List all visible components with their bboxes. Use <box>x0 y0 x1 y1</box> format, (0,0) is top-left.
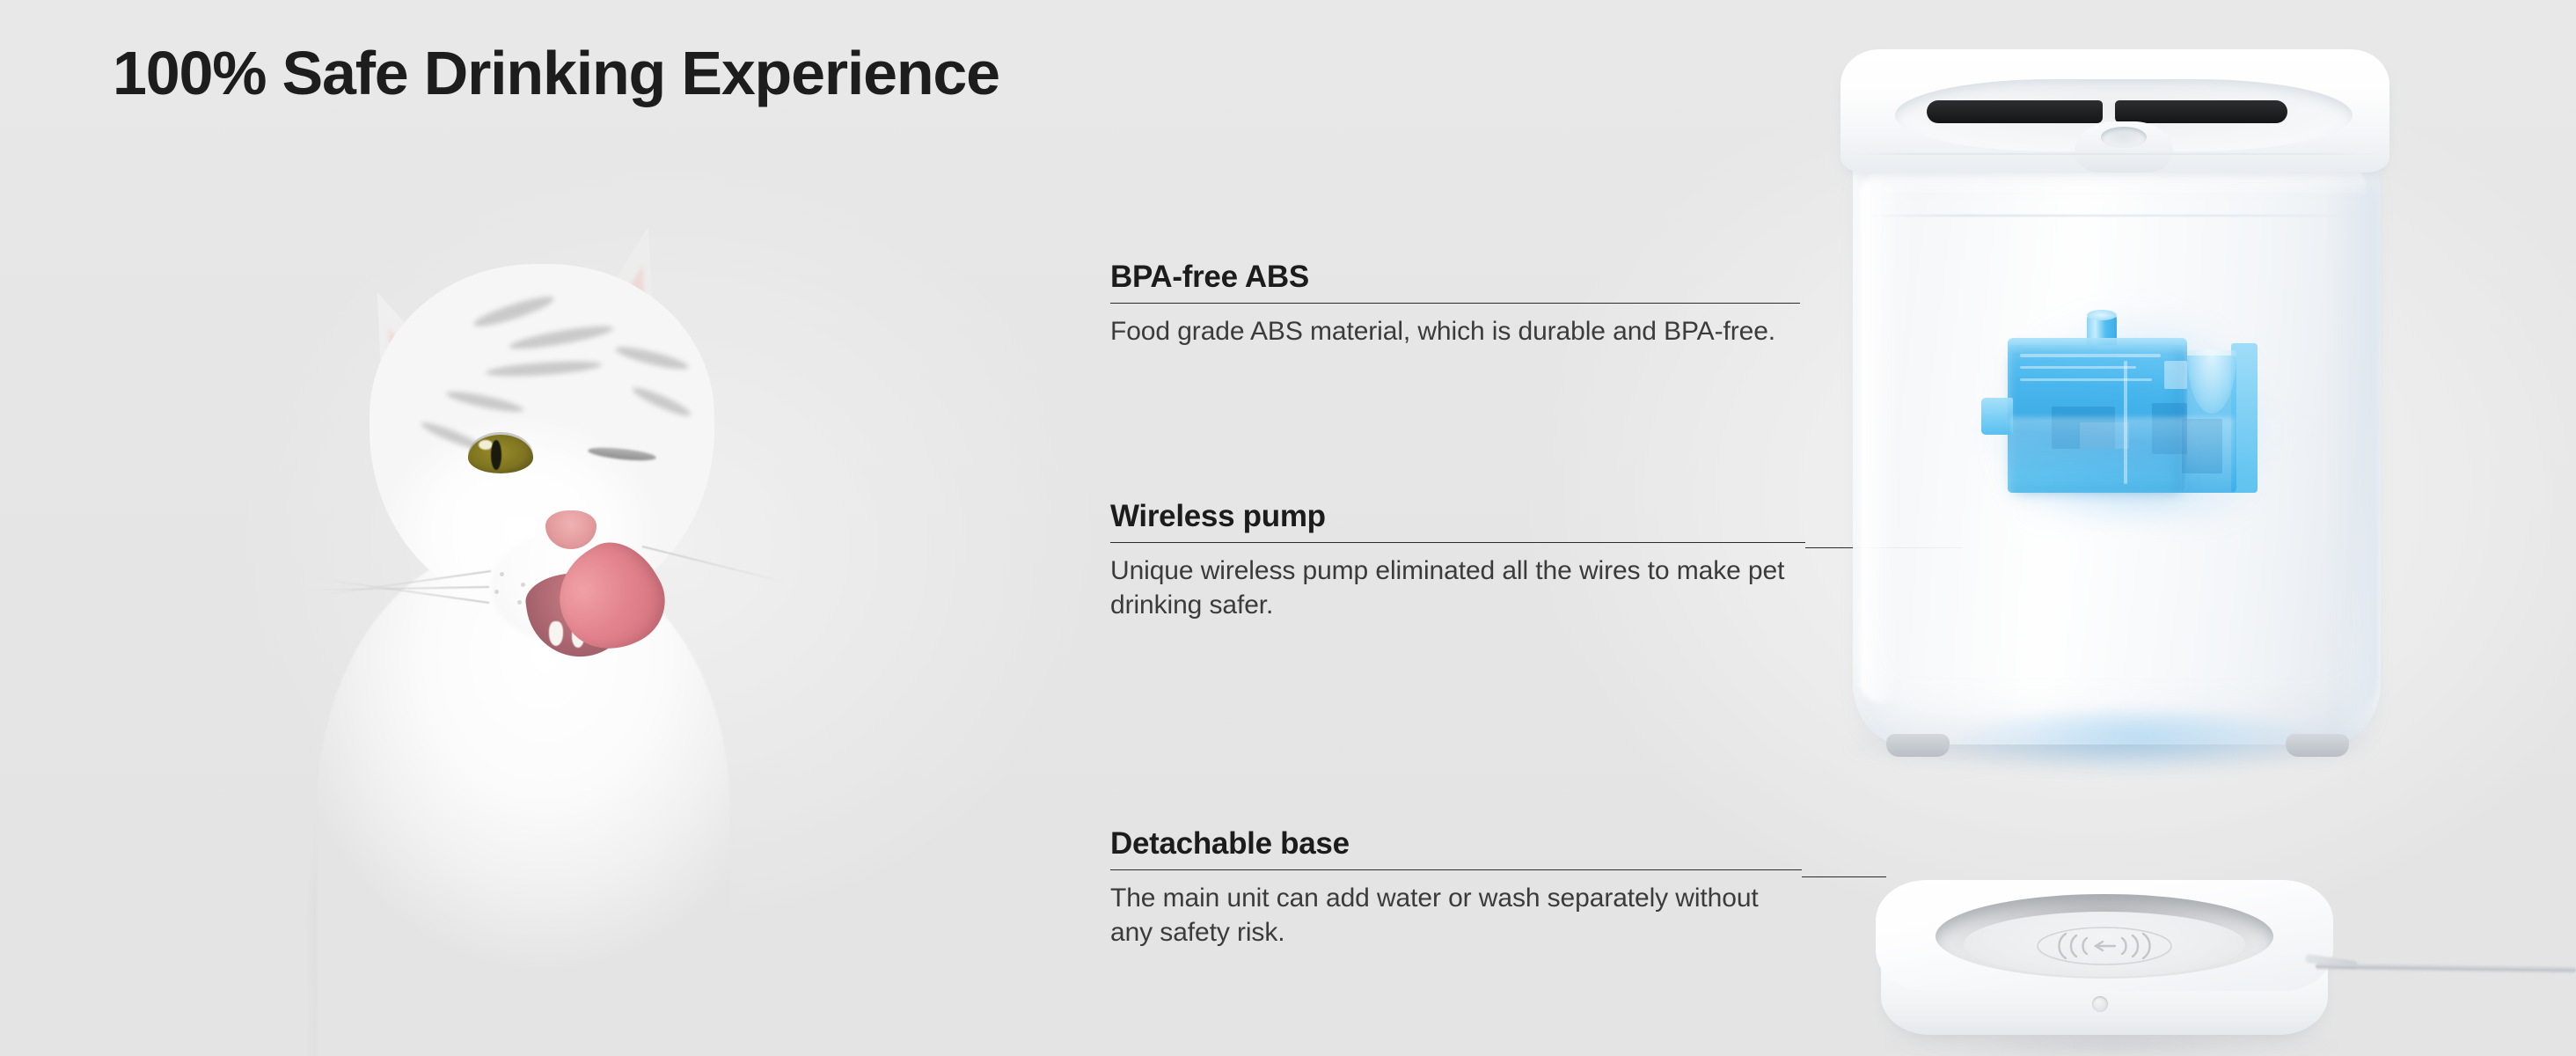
wireless-charging-icon <box>2034 926 2175 966</box>
feature-divider <box>1110 303 1800 304</box>
cat-eye-pupil <box>491 440 501 470</box>
feature-divider <box>1110 869 1802 870</box>
cat-tooth <box>549 621 563 646</box>
pump-base-glow <box>1960 711 2312 773</box>
lid-slot-right <box>2115 100 2287 123</box>
lid-spout-hole <box>2101 127 2147 148</box>
pump-reflection <box>2009 417 2235 493</box>
feature-body: Food grade ABS material, which is durabl… <box>1110 314 1805 349</box>
detachable-base[interactable] <box>1872 880 2347 1056</box>
cat-whisker-dot <box>521 583 525 587</box>
feature-divider <box>1110 542 1805 543</box>
feature-callout-wireless-pump: Wireless pump Unique wireless pump elimi… <box>1110 500 1805 623</box>
status-led <box>2092 996 2108 1012</box>
leader-line-detachable-base <box>1802 876 1886 877</box>
cat-whisker <box>642 546 787 583</box>
water-fountain-product <box>1828 42 2409 746</box>
tank-waterline <box>1867 215 2360 216</box>
feature-body: Unique wireless pump eliminated all the … <box>1110 554 1805 623</box>
page-title: 100% Safe Drinking Experience <box>113 42 999 104</box>
fountain-foot-left <box>1886 734 1950 757</box>
power-cable <box>2316 962 2576 974</box>
lid-slot-left <box>1927 100 2103 123</box>
fountain-foot-right <box>2286 734 2349 757</box>
feature-body: The main unit can add water or wash sepa… <box>1110 881 1805 950</box>
cat-photo <box>264 132 827 1056</box>
tank-right-edge <box>2328 174 2379 720</box>
cat-whisker-dot <box>494 590 499 594</box>
feature-callout-bpa-free-abs: BPA-free ABS Food grade ABS material, wh… <box>1110 260 1805 348</box>
feature-heading: Wireless pump <box>1110 500 1805 534</box>
pump-detail-line <box>2020 378 2152 381</box>
lid-seam <box>1846 153 2384 155</box>
feature-heading: BPA-free ABS <box>1110 260 1805 295</box>
feature-heading: Detachable base <box>1110 827 1805 862</box>
tank-highlight-left <box>1860 174 1900 702</box>
cat-whisker-dot <box>500 572 504 576</box>
feature-callout-detachable-base: Detachable base The main unit can add wa… <box>1110 827 1805 950</box>
infographic-canvas: 100% Safe Drinking Experience <box>0 0 2576 1056</box>
wireless-pump <box>2001 312 2265 498</box>
pump-spout-opening <box>2087 310 2117 320</box>
cat-whisker-dot <box>517 600 522 605</box>
pump-inlet <box>1981 398 2013 435</box>
pump-detail-line <box>2020 366 2136 369</box>
pump-detail-line <box>2020 354 2161 357</box>
pump-internal-block <box>2164 361 2187 389</box>
